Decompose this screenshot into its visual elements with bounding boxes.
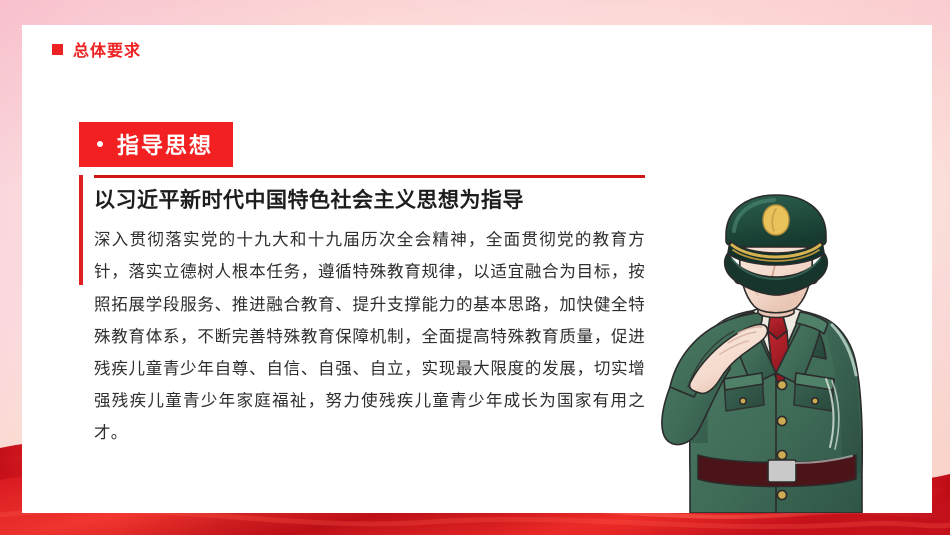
guiding-thought-section: 指导思想 以习近平新时代中国特色社会主义思想为指导 深入贯彻落实党的十九大和十九… <box>57 122 657 450</box>
bullet-dot-icon <box>97 141 103 147</box>
slide-root: 总体要求 指导思想 以习近平新时代中国特色社会主义思想为指导 深入贯彻落实党的十… <box>0 0 950 535</box>
horizontal-accent-rule <box>94 175 645 178</box>
section-tag-banner: 指导思想 <box>79 122 233 167</box>
page-title: 总体要求 <box>73 37 141 61</box>
card-header: 总体要求 <box>52 37 141 61</box>
section-tag-label: 指导思想 <box>117 128 213 160</box>
section-body-text: 深入贯彻落实党的十九大和十九届历次全会精神，全面贯彻党的教育方针，落实立德树人根… <box>94 224 645 449</box>
content-card: 总体要求 指导思想 以习近平新时代中国特色社会主义思想为指导 深入贯彻落实党的十… <box>22 25 932 513</box>
square-bullet-icon <box>52 44 63 55</box>
section-body-wrap: 以习近平新时代中国特色社会主义思想为指导 深入贯彻落实党的十九大和十九届历次全会… <box>57 175 657 450</box>
vertical-accent-rule <box>79 175 83 285</box>
saluting-soldier-illustration <box>630 173 930 513</box>
section-headline: 以习近平新时代中国特色社会主义思想为指导 <box>94 187 657 214</box>
